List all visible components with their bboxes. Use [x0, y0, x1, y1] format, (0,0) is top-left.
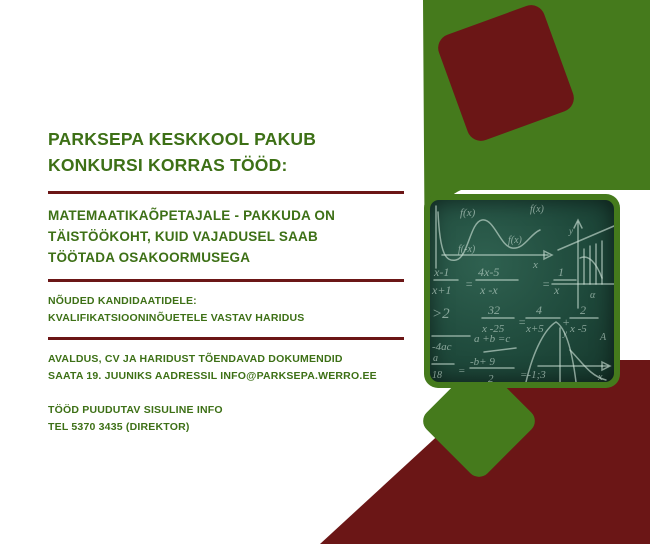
- svg-text:f(x): f(x): [508, 235, 523, 246]
- svg-text:+: +: [562, 315, 570, 329]
- svg-text:x: x: [553, 283, 560, 297]
- svg-text:a: a: [433, 353, 438, 364]
- svg-text:y: y: [568, 226, 573, 236]
- headline-line-2: KONKURSI KORRAS TÖÖD:: [48, 152, 404, 178]
- blackboard: f(x) f(x) f(-x) f(x) x y α x-1 x+1: [430, 200, 614, 382]
- svg-text:x+1: x+1: [431, 283, 451, 297]
- section-requirements: NÕUDED KANDIDAATIDELE: KVALIFIKATSIOONIN…: [48, 293, 404, 326]
- requirements-line-1: NÕUDED KANDIDAATIDELE:: [48, 293, 404, 310]
- application-line-2: SAATA 19. JUUNIKS AADRESSIL INFO@PARKSEP…: [48, 368, 404, 385]
- svg-text:32: 32: [487, 303, 500, 317]
- svg-text:2: 2: [580, 303, 586, 317]
- svg-text:y: y: [562, 328, 567, 338]
- svg-text:>2: >2: [432, 306, 450, 322]
- svg-text:f(x): f(x): [460, 207, 476, 219]
- position-line-3: TÖÖTADA OSAKOORMUSEGA: [48, 247, 404, 268]
- svg-text:x+5: x+5: [525, 323, 544, 335]
- svg-text:-4ac: -4ac: [432, 341, 452, 353]
- poster-canvas: f(x) f(x) f(-x) f(x) x y α x-1 x+1: [0, 0, 650, 544]
- blackboard-frame: f(x) f(x) f(-x) f(x) x y α x-1 x+1: [424, 194, 620, 388]
- position-line-1: MATEMAATIKAÕPETAJALE - PAKKUDA ON: [48, 205, 404, 226]
- blackboard-equations: f(x) f(x) f(-x) f(x) x y α x-1 x+1: [430, 200, 614, 382]
- svg-text:x-1: x-1: [433, 265, 449, 279]
- svg-text:f(x): f(x): [530, 204, 545, 215]
- svg-text:α: α: [590, 290, 596, 301]
- headline-line-1: PARKSEPA KESKKOOL PAKUB: [48, 126, 404, 152]
- poster-text-column: PARKSEPA KESKKOOL PAKUB KONKURSI KORRAS …: [48, 0, 404, 435]
- contact-line-1: TÖÖD PUUDUTAV SISULINE INFO: [48, 402, 404, 419]
- svg-text:x -5: x -5: [569, 323, 587, 335]
- svg-text:A: A: [599, 332, 607, 343]
- headline: PARKSEPA KESKKOOL PAKUB KONKURSI KORRAS …: [48, 126, 404, 178]
- section-contact: TÖÖD PUUDUTAV SISULINE INFO TEL 5370 343…: [48, 402, 404, 435]
- svg-text:1: 1: [558, 265, 564, 279]
- svg-text:=: =: [542, 277, 550, 291]
- svg-text:x: x: [532, 259, 538, 271]
- svg-text:4: 4: [536, 303, 542, 317]
- svg-text:=: =: [458, 365, 465, 377]
- svg-text:4x-5: 4x-5: [478, 265, 499, 279]
- svg-text:f(-x): f(-x): [458, 244, 476, 255]
- section-position: MATEMAATIKAÕPETAJALE - PAKKUDA ON TÄISTÖ…: [48, 205, 404, 268]
- position-line-2: TÄISTÖÖKOHT, KUID VAJADUSEL SAAB: [48, 226, 404, 247]
- svg-text:=: =: [465, 277, 473, 291]
- section-application: AVALDUS, CV JA HARIDUST TÕENDAVAD DOKUME…: [48, 351, 404, 384]
- svg-text:x -x: x -x: [479, 283, 498, 297]
- svg-text:a +b =c: a +b =c: [474, 333, 510, 345]
- svg-text:18: 18: [432, 370, 442, 381]
- svg-text:=: =: [518, 315, 526, 329]
- svg-text:=-1;3: =-1;3: [520, 369, 546, 381]
- requirements-line-2: KVALIFIKATSIOONINÕUETELE VASTAV HARIDUS: [48, 310, 404, 327]
- svg-text:-b+ 9: -b+ 9: [470, 356, 495, 368]
- application-line-1: AVALDUS, CV JA HARIDUST TÕENDAVAD DOKUME…: [48, 351, 404, 368]
- contact-line-2: TEL 5370 3435 (DIREKTOR): [48, 419, 404, 436]
- svg-text:2: 2: [488, 373, 494, 382]
- svg-text:x: x: [597, 372, 603, 382]
